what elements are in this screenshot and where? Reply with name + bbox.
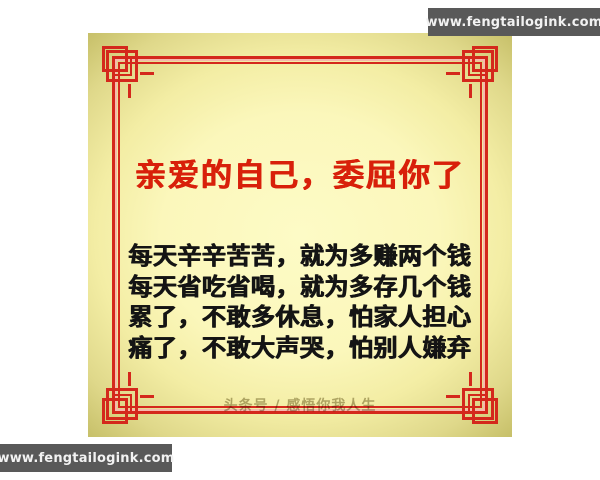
poster-title: 亲爱的自己，委屈你了 <box>88 161 512 192</box>
corner-stub-vertical <box>469 84 472 98</box>
watermark-url-top-right: www.fengtailogink.com <box>428 8 600 36</box>
body-line: 每天辛辛苦苦，就为多赚两个钱 <box>88 241 512 272</box>
corner-stub-horizontal <box>446 72 460 75</box>
corner-ornament-top-left <box>102 46 142 86</box>
corner-stub-vertical <box>128 84 131 98</box>
corner-square-offset <box>472 46 498 72</box>
poster-image: 亲爱的自己，委屈你了 每天辛辛苦苦，就为多赚两个钱 每天省吃省喝，就为多存几个钱… <box>88 33 512 437</box>
corner-stub-vertical <box>128 372 131 386</box>
corner-stub-horizontal <box>140 72 154 75</box>
corner-square-offset <box>102 46 128 72</box>
body-line: 每天省吃省喝，就为多存几个钱 <box>88 272 512 303</box>
corner-ornament-top-right <box>458 46 498 86</box>
poster-body: 每天辛辛苦苦，就为多赚两个钱 每天省吃省喝，就为多存几个钱 累了，不敢多休息，怕… <box>88 241 512 363</box>
poster-credit-watermark: 头条号 / 感悟你我人生 <box>88 395 512 415</box>
watermark-url-bottom-left: www.fengtailogink.com <box>0 444 172 472</box>
body-line: 累了，不敢多休息，怕家人担心 <box>88 302 512 333</box>
corner-stub-vertical <box>469 372 472 386</box>
body-line: 痛了，不敢大声哭，怕别人嫌弃 <box>88 333 512 364</box>
